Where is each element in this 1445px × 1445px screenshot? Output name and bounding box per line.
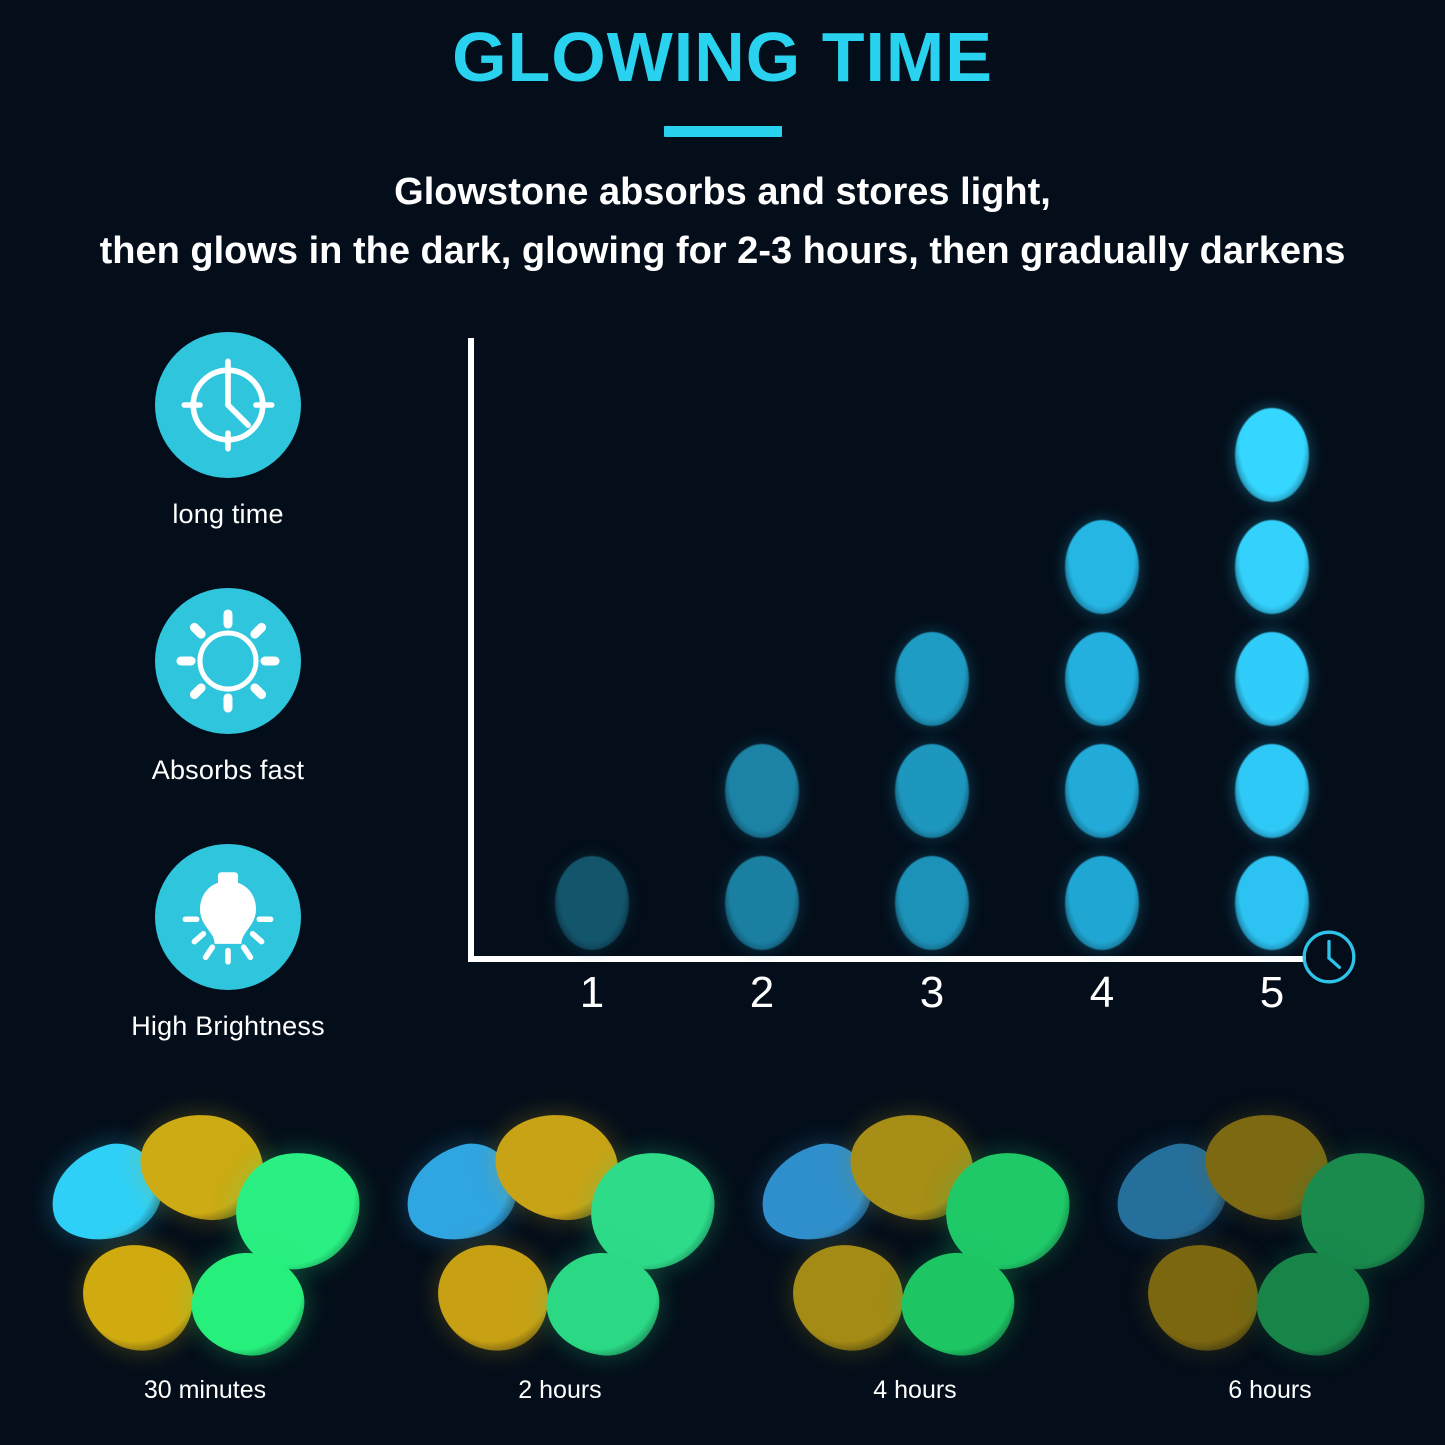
feature-absorbs-fast: Absorbs fast <box>107 588 349 786</box>
chart-stone <box>555 856 629 950</box>
chart-stone <box>1235 744 1309 838</box>
sample-cluster: 6 hours <box>1090 1105 1445 1405</box>
yellow-pebble-bottom <box>64 1225 212 1369</box>
subtitle-line-2: then glows in the dark, glowing for 2-3 … <box>0 222 1445 281</box>
chart-x-tick-labels: 12345 <box>474 968 1304 1028</box>
x-tick-label: 4 <box>1042 968 1162 1018</box>
chart-stone <box>1065 520 1139 614</box>
pebble-group <box>395 1105 725 1335</box>
chart-stone <box>1065 856 1139 950</box>
feature-label: Absorbs fast <box>107 755 349 786</box>
sample-label: 6 hours <box>1090 1376 1445 1405</box>
feature-list: long time Absorbs fast <box>107 332 349 1042</box>
lightbulb-icon <box>155 844 301 990</box>
chart-stone <box>1235 520 1309 614</box>
pebble-group <box>1105 1105 1435 1335</box>
subtitle-line-1: Glowstone absorbs and stores light, <box>0 163 1445 222</box>
sample-cluster: 30 minutes <box>25 1105 385 1405</box>
title-underline-rule <box>664 126 782 137</box>
sample-label: 30 minutes <box>25 1376 385 1405</box>
x-tick-label: 1 <box>532 968 652 1018</box>
sample-label: 4 hours <box>735 1376 1095 1405</box>
yellow-pebble-bottom <box>419 1225 567 1369</box>
sample-timeline: 30 minutes2 hours4 hours6 hours <box>0 1105 1445 1405</box>
feature-long-time: long time <box>107 332 349 530</box>
feature-high-brightness: High Brightness <box>107 844 349 1042</box>
chart-stone <box>1065 632 1139 726</box>
x-tick-label: 2 <box>702 968 822 1018</box>
chart-stone <box>895 632 969 726</box>
sample-cluster: 4 hours <box>735 1105 1095 1405</box>
chart-stone <box>895 856 969 950</box>
x-tick-label: 5 <box>1212 968 1332 1018</box>
yellow-pebble-bottom <box>1129 1225 1277 1369</box>
chart-stone <box>895 744 969 838</box>
pebble-group <box>750 1105 1080 1335</box>
sample-label: 2 hours <box>380 1376 740 1405</box>
chart-x-axis <box>468 956 1306 962</box>
x-tick-label: 3 <box>872 968 992 1018</box>
sample-cluster: 2 hours <box>380 1105 740 1405</box>
feature-label: High Brightness <box>107 1011 349 1042</box>
chart-stone <box>725 856 799 950</box>
sun-icon <box>155 588 301 734</box>
chart-stone <box>725 744 799 838</box>
chart-stone <box>1235 408 1309 502</box>
chart-stone <box>1235 632 1309 726</box>
yellow-pebble-bottom <box>774 1225 922 1369</box>
glow-intensity-chart: 12345 <box>460 330 1380 1050</box>
chart-stone <box>1065 744 1139 838</box>
header: GLOWING TIME Glowstone absorbs and store… <box>0 0 1445 281</box>
clock-icon <box>155 332 301 478</box>
subtitle: Glowstone absorbs and stores light, then… <box>0 163 1445 281</box>
page-title: GLOWING TIME <box>0 22 1445 92</box>
pebble-group <box>40 1105 370 1335</box>
chart-stone <box>1235 856 1309 950</box>
feature-label: long time <box>107 499 349 530</box>
chart-plot-area <box>474 344 1304 956</box>
